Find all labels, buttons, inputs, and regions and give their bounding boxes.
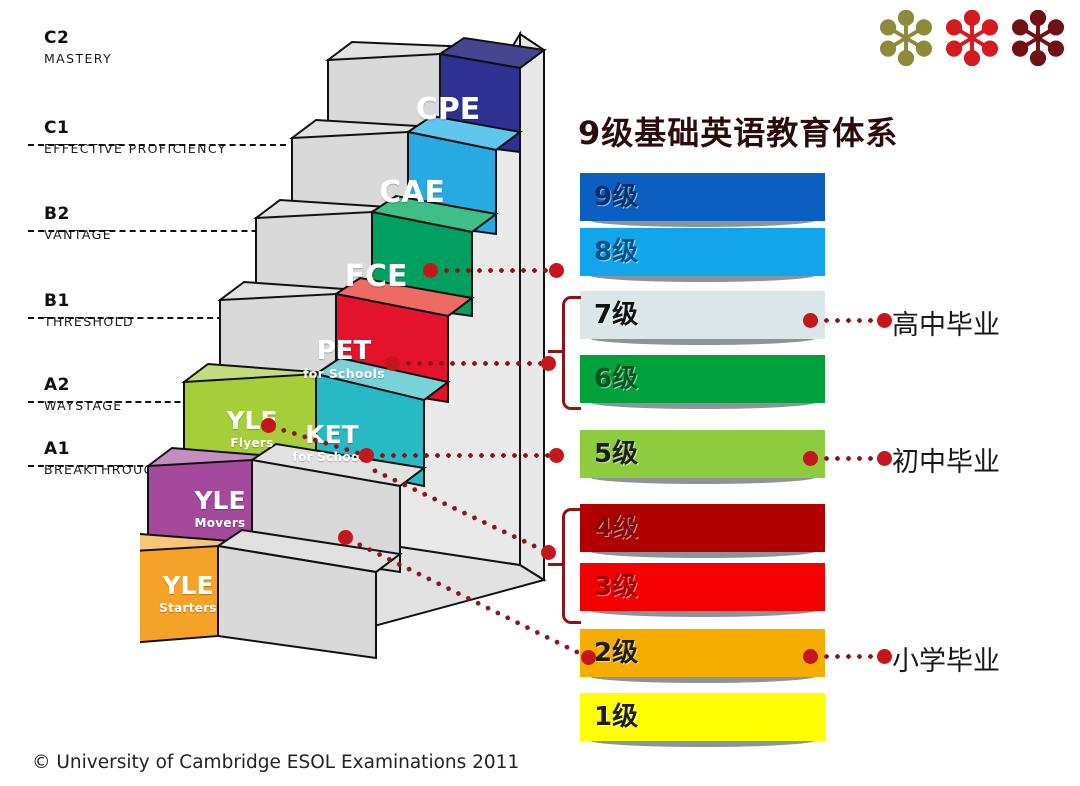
connector-pet-to-level76 xyxy=(392,361,548,366)
cefr-code: C2 xyxy=(44,30,112,48)
connector-level5-to-middleschool xyxy=(810,456,884,461)
cefr-staircase-illustration xyxy=(140,20,560,660)
asterisk-icon-red xyxy=(944,10,1000,66)
level-bar-6[interactable]: 6级 xyxy=(580,355,825,403)
level-bar-label: 8级 xyxy=(594,239,638,265)
cefr-code: A2 xyxy=(44,377,123,395)
connector-dot-l2 xyxy=(803,649,818,664)
step-yle-starters xyxy=(140,530,400,658)
connector-dot-ps xyxy=(877,649,892,664)
level-bar-label: 2级 xyxy=(594,640,638,666)
level-bar-8[interactable]: 8级 xyxy=(580,228,825,276)
connector-dot-flyers xyxy=(261,418,276,433)
annotation-0: 高中毕业 xyxy=(892,303,1000,342)
connector-ket-to-level5 xyxy=(366,453,556,458)
level-bar-label: 5级 xyxy=(594,441,638,467)
connector-dot-ket xyxy=(359,448,374,463)
brace-level-7-6 xyxy=(562,296,581,410)
level-bar-4[interactable]: 4级 xyxy=(580,504,825,552)
connector-fce-to-level8 xyxy=(430,268,556,273)
level-bar-label: 3级 xyxy=(594,574,638,600)
connector-level7-to-highschool xyxy=(810,318,884,323)
connector-dot-hs xyxy=(877,313,892,328)
diagram-canvas: C2MASTERYC1EFFECTIVE PROFICIENCYB2VANTAG… xyxy=(0,0,1080,786)
cefr-label-a2: A2WAYSTAGE xyxy=(44,377,123,413)
connector-dot-fce xyxy=(423,263,438,278)
level-bar-2[interactable]: 2级 xyxy=(580,629,825,677)
level-bar-label: 4级 xyxy=(594,515,638,541)
connector-dot-l7 xyxy=(803,313,818,328)
connector-dot-level2 xyxy=(581,650,596,665)
connector-dot-movers xyxy=(338,530,353,545)
connector-dot-level5 xyxy=(549,448,564,463)
annotation-2: 小学毕业 xyxy=(892,639,1000,678)
level-bar-label: 6级 xyxy=(594,366,638,392)
connector-dot-pet xyxy=(385,356,400,371)
level-bar-9[interactable]: 9级 xyxy=(580,173,825,221)
level-bar-7[interactable]: 7级 xyxy=(580,291,825,339)
connector-dot-brace43 xyxy=(541,545,556,560)
brace-level-4-3-tick xyxy=(548,563,564,566)
level-bar-5[interactable]: 5级 xyxy=(580,430,825,478)
level-bar-1[interactable]: 1级 xyxy=(580,693,825,741)
brace-level-7-6-tick xyxy=(548,350,564,353)
asterisk-icon-maroon xyxy=(1010,10,1066,66)
cefr-label-b2: B2VANTAGE xyxy=(44,206,112,242)
connector-dot-level8 xyxy=(549,263,564,278)
connector-dot-ms xyxy=(877,451,892,466)
connector-level2-to-primary xyxy=(810,654,884,659)
cefr-label-c2: C2MASTERY xyxy=(44,30,112,66)
level-bar-3[interactable]: 3级 xyxy=(580,563,825,611)
cefr-code: B2 xyxy=(44,206,112,224)
cambridge-esol-asterisk-logo xyxy=(878,10,1066,66)
annotation-1: 初中毕业 xyxy=(892,440,1000,479)
level-bar-label: 1级 xyxy=(594,704,638,730)
cefr-code: B1 xyxy=(44,293,134,311)
asterisk-icon-olive xyxy=(878,10,934,66)
cefr-label-b1: B1THRESHOLD xyxy=(44,293,134,329)
level-bar-label: 9级 xyxy=(594,184,638,210)
cefr-name: MASTERY xyxy=(44,51,112,66)
brace-level-4-3 xyxy=(562,508,581,624)
connector-dot-brace76 xyxy=(541,356,556,371)
page-title: 9级基础英语教育体系 xyxy=(578,108,998,154)
level-bar-label: 7级 xyxy=(594,302,638,328)
copyright-footer: © University of Cambridge ESOL Examinati… xyxy=(32,752,519,773)
connector-dot-l5 xyxy=(803,451,818,466)
